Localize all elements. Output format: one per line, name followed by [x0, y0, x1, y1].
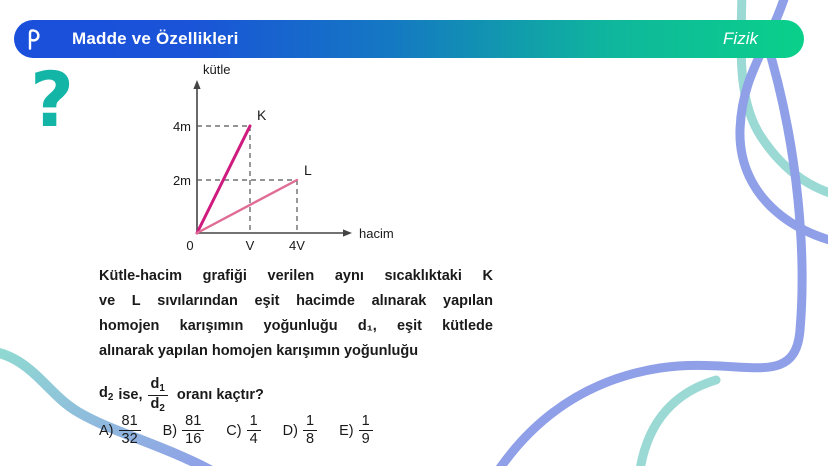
question-ratio-line: d2 ise, d1 d2 oranı kaçtır? — [99, 377, 493, 414]
fraction-denominator: d2 — [148, 395, 168, 414]
header-bar: Madde ve Özellikleri Fizik — [14, 20, 804, 58]
word: alınarak — [372, 289, 427, 314]
question-text: Kütle-hacim grafiği verilen aynı sıcaklı… — [99, 264, 493, 414]
option-b-letter: B) — [163, 423, 178, 439]
x-tick-v: V — [246, 238, 255, 253]
option-c[interactable]: C) 1 4 — [226, 414, 260, 448]
word: sıcaklıktaki — [384, 264, 461, 289]
question-mark-decoration: ? — [30, 62, 74, 138]
word-ise: ise, — [118, 383, 142, 408]
option-c-numerator: 1 — [247, 414, 261, 430]
series-line-l — [197, 180, 297, 233]
decor-curve-blue-right — [492, 40, 802, 466]
y-axis-arrow — [193, 80, 200, 89]
page-title: Madde ve Özellikleri — [72, 29, 239, 49]
option-b-denominator: 16 — [182, 430, 204, 447]
option-e-numerator: 1 — [359, 414, 373, 430]
word: grafiği — [203, 264, 247, 289]
x-axis-label: hacim — [359, 226, 394, 241]
x-tick-4v: 4V — [289, 238, 305, 253]
word: sıvılarından — [157, 289, 238, 314]
word: d₁, — [358, 314, 377, 339]
word: aynı — [335, 264, 364, 289]
y-tick-4m: 4m — [173, 119, 191, 134]
word: eşit — [397, 314, 422, 339]
word: karışımın — [180, 314, 244, 339]
word: Kütle-hacim — [99, 264, 182, 289]
x-tick-origin: 0 — [186, 238, 193, 253]
word: K — [482, 264, 492, 289]
option-d-denominator: 8 — [303, 430, 317, 447]
word: yoğunluğu — [264, 314, 338, 339]
option-a-denominator: 32 — [119, 430, 141, 447]
answer-options: A) 81 32 B) 81 16 C) 1 4 D) 1 8 E) 1 9 — [99, 414, 499, 448]
brand-p-logo-icon — [21, 26, 47, 52]
option-c-denominator: 4 — [247, 430, 261, 447]
option-b[interactable]: B) 81 16 — [163, 414, 205, 448]
option-d-letter: D) — [283, 423, 298, 439]
question-line-2: ve L sıvılarından eşit hacimde alınarak … — [99, 289, 493, 314]
decor-curve-teal-bottom — [640, 380, 716, 466]
option-a-letter: A) — [99, 423, 114, 439]
option-c-fraction: 1 4 — [247, 414, 261, 448]
series-label-l: L — [304, 162, 312, 178]
word: kütlede — [442, 314, 493, 339]
option-a-numerator: 81 — [119, 414, 141, 430]
word: ve — [99, 289, 115, 314]
word: hacimde — [296, 289, 355, 314]
y-tick-2m: 2m — [173, 173, 191, 188]
mass-volume-graph: kütle hacim 4m 2m 0 V 4V K L — [150, 60, 420, 260]
question-suffix: oranı kaçtır? — [177, 383, 264, 408]
option-a[interactable]: A) 81 32 — [99, 414, 141, 448]
option-b-numerator: 81 — [182, 414, 204, 430]
ratio-fraction: d1 d2 — [148, 377, 168, 414]
option-e-denominator: 9 — [359, 430, 373, 447]
subject-label: Fizik — [723, 29, 758, 49]
x-axis-arrow — [343, 229, 352, 236]
option-d[interactable]: D) 1 8 — [283, 414, 317, 448]
variable-d2: d2 — [99, 381, 113, 410]
y-axis-label: kütle — [203, 62, 230, 77]
series-label-k: K — [257, 107, 267, 123]
word: eşit — [254, 289, 279, 314]
option-b-fraction: 81 16 — [182, 414, 204, 448]
option-d-numerator: 1 — [303, 414, 317, 430]
option-e[interactable]: E) 1 9 — [339, 414, 373, 448]
option-c-letter: C) — [226, 423, 241, 439]
word: L — [132, 289, 141, 314]
question-line-1: Kütle-hacim grafiği verilen aynı sıcaklı… — [99, 264, 493, 289]
question-line-3: homojen karışımın yoğunluğu d₁, eşit küt… — [99, 314, 493, 339]
option-e-fraction: 1 9 — [359, 414, 373, 448]
word: verilen — [268, 264, 315, 289]
word: yapılan — [443, 289, 493, 314]
question-line-4: alınarak yapılan homojen karışımın yoğun… — [99, 339, 493, 364]
option-e-letter: E) — [339, 423, 354, 439]
option-a-fraction: 81 32 — [119, 414, 141, 448]
option-d-fraction: 1 8 — [303, 414, 317, 448]
fraction-numerator: d1 — [148, 377, 168, 395]
word: homojen — [99, 314, 159, 339]
